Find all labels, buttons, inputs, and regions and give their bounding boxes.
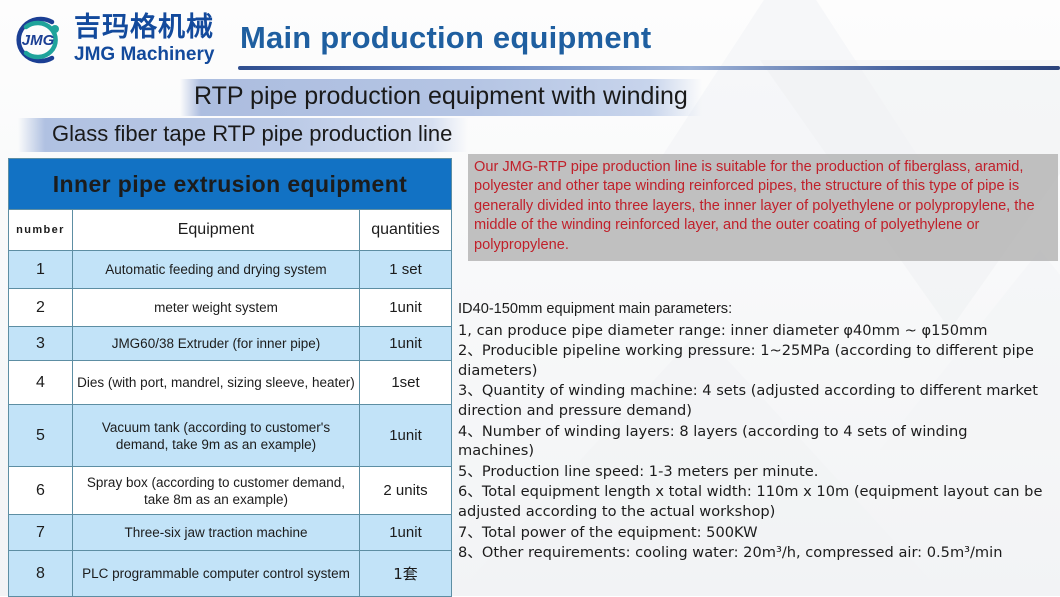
table-row: 4 Dies (with port, mandrel, sizing sleev… — [9, 361, 452, 405]
subtitle-primary: RTP pipe production equipment with windi… — [180, 79, 702, 116]
subtitle-secondary: Glass fiber tape RTP pipe production lin… — [18, 118, 468, 152]
parameter-item: 3、Quantity of winding machine: 4 sets (a… — [458, 381, 1046, 420]
jmg-logo: JMG — [6, 14, 70, 66]
parameter-item: 7、Total power of the equipment: 500KW — [458, 523, 1046, 543]
header-divider — [238, 66, 1060, 70]
cell-quantity: 2 units — [359, 467, 451, 515]
logo-text: JMG — [22, 32, 55, 49]
cell-quantity: 1unit — [359, 405, 451, 467]
logo-icon: JMG — [6, 14, 70, 66]
cell-number: 3 — [9, 327, 73, 361]
table-header-row: number Equipment quantities — [9, 210, 452, 251]
equipment-table: Inner pipe extrusion equipment number Eq… — [8, 158, 452, 597]
table-row: 3 JMG60/38 Extruder (for inner pipe) 1un… — [9, 327, 452, 361]
table-row: 6 Spray box (according to customer deman… — [9, 467, 452, 515]
parameter-item: 2、Producible pipeline working pressure: … — [458, 341, 1046, 380]
table-row: 1 Automatic feeding and drying system 1 … — [9, 251, 452, 289]
cell-equipment: Automatic feeding and drying system — [73, 251, 360, 289]
parameter-item: 5、Production line speed: 1-3 meters per … — [458, 462, 1046, 482]
cell-equipment: JMG60/38 Extruder (for inner pipe) — [73, 327, 360, 361]
cell-equipment: Dies (with port, mandrel, sizing sleeve,… — [73, 361, 360, 405]
cell-number: 6 — [9, 467, 73, 515]
brand-name-en: JMG Machinery — [74, 44, 214, 66]
cell-quantity: 1unit — [359, 327, 451, 361]
description-callout: Our JMG-RTP pipe production line is suit… — [468, 154, 1058, 261]
parameter-item: 1, can produce pipe diameter range: inne… — [458, 321, 1046, 341]
cell-equipment: Three-six jaw traction machine — [73, 515, 360, 551]
cell-number: 5 — [9, 405, 73, 467]
parameters-list: ID40-150mm equipment main parameters: 1,… — [458, 300, 1046, 564]
equipment-table-wrapper: Inner pipe extrusion equipment number Eq… — [8, 158, 452, 597]
brand-block: 吉玛格机械 JMG Machinery — [74, 13, 214, 66]
cell-number: 4 — [9, 361, 73, 405]
parameters-heading: ID40-150mm equipment main parameters: — [458, 300, 1046, 320]
table-row: 7 Three-six jaw traction machine 1unit — [9, 515, 452, 551]
column-header-equipment: Equipment — [73, 210, 360, 251]
parameter-item: 8、Other requirements: cooling water: 20m… — [458, 543, 1046, 563]
slide-page: JMG 吉玛格机械 JMG Machinery Main production … — [0, 0, 1060, 596]
parameter-item: 4、Number of winding layers: 8 layers (ac… — [458, 422, 1046, 461]
cell-equipment: meter weight system — [73, 289, 360, 327]
cell-quantity: 1unit — [359, 515, 451, 551]
cell-equipment: Spray box (according to customer demand,… — [73, 467, 360, 515]
cell-quantity: 1set — [359, 361, 451, 405]
table-row: 2 meter weight system 1unit — [9, 289, 452, 327]
cell-number: 1 — [9, 251, 73, 289]
cell-quantity: 1 set — [359, 251, 451, 289]
table-row: 8 PLC programmable computer control syst… — [9, 551, 452, 597]
description-text: Our JMG-RTP pipe production line is suit… — [474, 158, 1052, 255]
parameter-item: 6、Total equipment length x total width: … — [458, 482, 1046, 521]
cell-equipment: PLC programmable computer control system — [73, 551, 360, 597]
table-title: Inner pipe extrusion equipment — [9, 159, 452, 210]
page-title: Main production equipment — [240, 20, 651, 56]
cell-equipment: Vacuum tank (according to customer's dem… — [73, 405, 360, 467]
cell-quantity: 1套 — [359, 551, 451, 597]
cell-number: 7 — [9, 515, 73, 551]
cell-number: 8 — [9, 551, 73, 597]
cell-quantity: 1unit — [359, 289, 451, 327]
brand-name-cn: 吉玛格机械 — [74, 13, 214, 43]
table-title-row: Inner pipe extrusion equipment — [9, 159, 452, 210]
column-header-quantities: quantities — [359, 210, 451, 251]
table-row: 5 Vacuum tank (according to customer's d… — [9, 405, 452, 467]
cell-number: 2 — [9, 289, 73, 327]
page-header: JMG 吉玛格机械 JMG Machinery Main production … — [0, 0, 1060, 78]
column-header-number: number — [9, 210, 73, 251]
